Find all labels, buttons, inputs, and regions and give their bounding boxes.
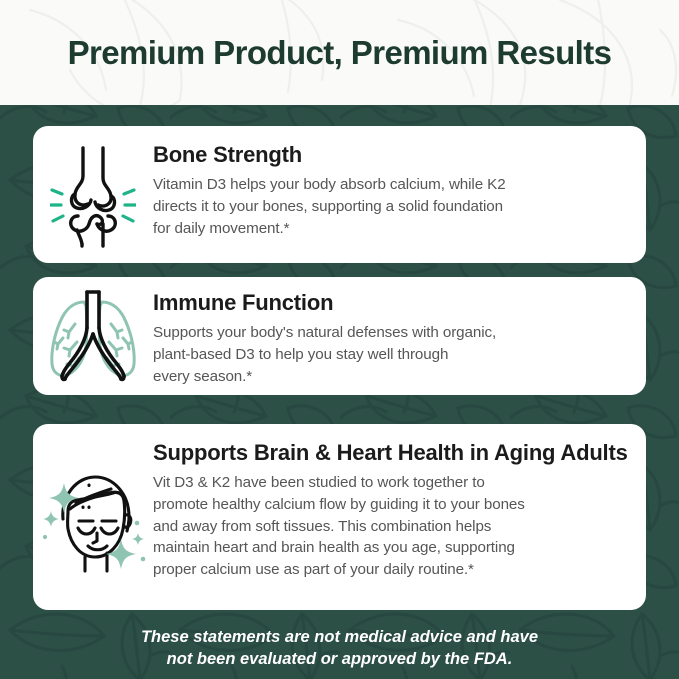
card-text-line: directs it to your bones, supporting a s… xyxy=(153,196,630,218)
card-text-line: and away from soft tissues. This combina… xyxy=(153,516,630,538)
card-text-line: maintain heart and brain health as you a… xyxy=(153,537,630,559)
feature-card-brain-heart-health[interactable]: Supports Brain & Heart Health in Aging A… xyxy=(33,424,646,610)
card-description: Supports your body's natural defenses wi… xyxy=(153,322,630,387)
card-body: Immune Function Supports your body's nat… xyxy=(153,277,646,387)
card-body: Bone Strength Vitamin D3 helps your body… xyxy=(153,126,646,239)
card-text-line: Vitamin D3 helps your body absorb calciu… xyxy=(153,174,630,196)
card-description: Vitamin D3 helps your body absorb calciu… xyxy=(153,174,630,239)
card-text-line: proper calcium use as part of your daily… xyxy=(153,559,630,581)
knee-joint-bone-icon xyxy=(33,142,153,248)
feature-card-bone-strength[interactable]: Bone Strength Vitamin D3 helps your body… xyxy=(33,126,646,263)
infographic-panel: Premium Product, Premium Results xyxy=(0,0,679,679)
card-text-line: Supports your body's natural defenses wi… xyxy=(153,322,630,344)
card-title-line: in Aging Adults xyxy=(470,440,628,465)
card-title: Immune Function xyxy=(153,290,630,316)
feature-card-immune-function[interactable]: Immune Function Supports your body's nat… xyxy=(33,277,646,395)
fda-disclaimer: These statements are not medical advice … xyxy=(0,626,679,671)
card-text-line: promote healthy calcium flow by guiding … xyxy=(153,494,630,516)
header-banner: Premium Product, Premium Results xyxy=(0,0,679,105)
card-text-line: for daily movement.* xyxy=(153,218,630,240)
card-description: Vit D3 & K2 have been studied to work to… xyxy=(153,472,630,580)
page-title: Premium Product, Premium Results xyxy=(0,34,679,72)
card-title-line: Supports Brain & Heart Health xyxy=(153,440,464,465)
card-title: Bone Strength xyxy=(153,142,630,168)
lungs-icon xyxy=(33,288,153,384)
card-text-line: plant-based D3 to help you stay well thr… xyxy=(153,344,630,366)
card-text-line: every season.* xyxy=(153,366,630,388)
disclaimer-line: These statements are not medical advice … xyxy=(0,626,679,648)
disclaimer-line: not been evaluated or approved by the FD… xyxy=(0,648,679,670)
card-text-line: Vit D3 & K2 have been studied to work to… xyxy=(153,472,630,494)
card-title: Supports Brain & Heart Health in Aging A… xyxy=(153,440,630,466)
card-body: Supports Brain & Heart Health in Aging A… xyxy=(153,424,646,580)
serene-face-sparkles-icon xyxy=(33,457,153,577)
